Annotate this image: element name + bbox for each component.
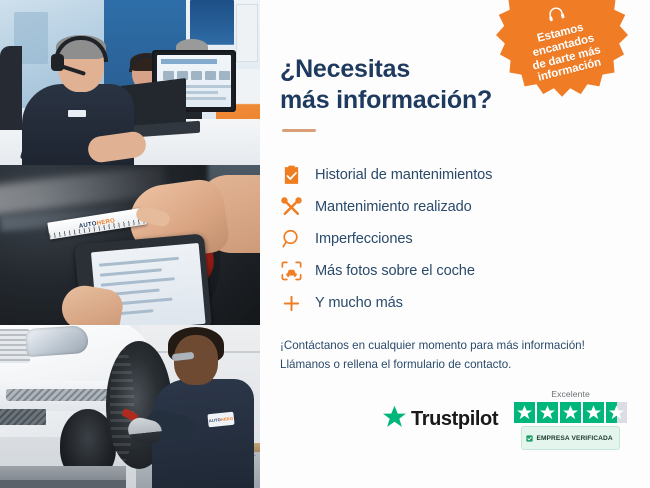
feature-item-mucho-mas: Y mucho más xyxy=(280,292,650,314)
promo-card: AUTOHERO xyxy=(0,0,650,488)
crossed-tools-icon xyxy=(280,196,302,218)
feature-item-mantenimiento: Mantenimiento realizado xyxy=(280,196,650,218)
title-divider xyxy=(282,129,316,132)
photo-collage: AUTOHERO xyxy=(0,0,260,488)
feature-list: Historial de mantenimientos Mantenimient… xyxy=(280,164,650,314)
trustpilot-logo[interactable]: Trustpilot xyxy=(382,405,498,434)
contact-line-1: ¡Contáctanos en cualquier momento para m… xyxy=(280,336,650,355)
feature-label: Mantenimiento realizado xyxy=(315,199,472,215)
verified-badge: EMPRESA VERIFICADA xyxy=(521,426,619,450)
wall-poster-secondary xyxy=(236,4,258,62)
plus-icon xyxy=(280,292,302,314)
headline-line-2: más información? xyxy=(280,85,510,116)
car-headlight xyxy=(25,325,89,357)
trustpilot-score: Excelente xyxy=(514,389,627,450)
trustpilot-rating[interactable]: Trustpilot Excelente xyxy=(382,389,627,450)
headline-line-1: ¿Necesitas xyxy=(280,55,410,83)
clipboard-check-icon xyxy=(280,164,302,186)
content-panel: ¿Necesitas más información? Estamos enca… xyxy=(260,0,650,488)
trustpilot-star-icon xyxy=(382,405,407,434)
star-filled xyxy=(560,402,581,423)
feature-label: Más fotos sobre el coche xyxy=(315,263,475,279)
agent-foreground xyxy=(18,38,136,165)
star-filled xyxy=(514,402,535,423)
star-rating xyxy=(514,402,627,423)
magnifier-icon xyxy=(280,228,302,250)
car-inspection-ruler-photo: AUTOHERO xyxy=(0,165,260,325)
mechanic-logo-badge: AUTOHERO xyxy=(207,412,234,428)
mechanic-wheel-photo: AUTOHERO xyxy=(0,325,260,488)
bumper-vent xyxy=(6,389,110,401)
star-filled xyxy=(537,402,558,423)
page-title: ¿Necesitas más información? xyxy=(280,54,510,115)
car-lift-base xyxy=(0,480,126,488)
rating-label: Excelente xyxy=(551,389,590,399)
trustpilot-wordmark: Trustpilot xyxy=(411,408,498,431)
feature-item-historial: Historial de mantenimientos xyxy=(280,164,650,186)
contact-paragraph: ¡Contáctanos en cualquier momento para m… xyxy=(280,336,650,374)
badge-text: Estamos encantados de darte más informac… xyxy=(525,18,605,85)
feature-item-fotos: Más fotos sobre el coche xyxy=(280,260,650,282)
support-badge: Estamos encantados de darte más informac… xyxy=(496,0,628,106)
lower-vent xyxy=(0,409,46,425)
verified-check-icon xyxy=(526,429,533,447)
tyre-tread xyxy=(110,347,134,463)
feature-item-imperfecciones: Imperfecciones xyxy=(280,228,650,250)
call-centre-agents-photo xyxy=(0,0,260,165)
star-partial xyxy=(606,402,627,423)
star-filled xyxy=(583,402,604,423)
feature-label: Imperfecciones xyxy=(315,231,413,247)
contact-line-2: Llámanos o rellena el formulario de cont… xyxy=(280,355,650,374)
feature-label: Historial de mantenimientos xyxy=(315,167,492,183)
feature-label: Y mucho más xyxy=(315,295,403,311)
car-scan-icon xyxy=(280,260,302,282)
verified-badge-text: EMPRESA VERIFICADA xyxy=(536,435,612,442)
